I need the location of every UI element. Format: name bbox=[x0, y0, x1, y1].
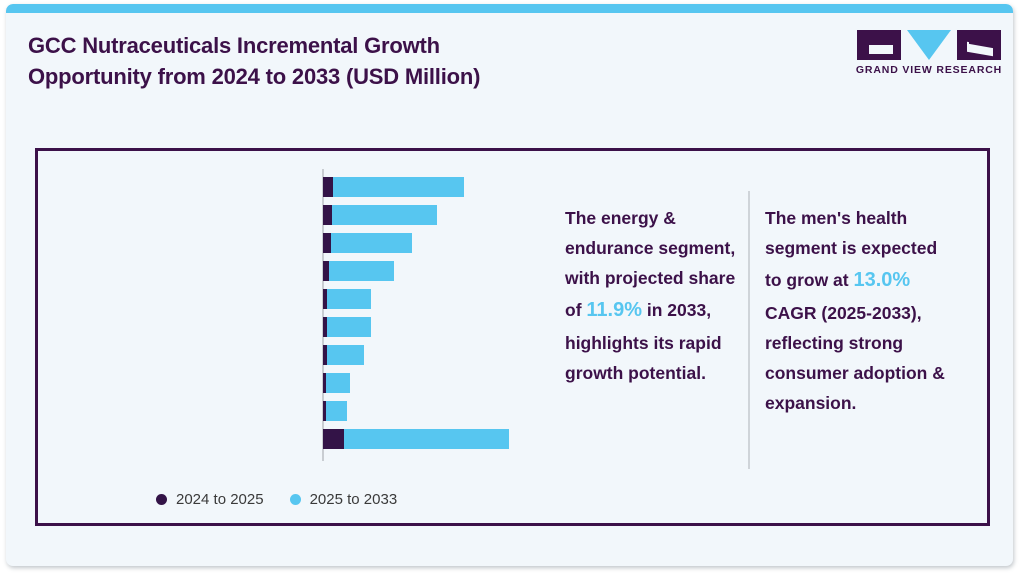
page-title: GCC Nutraceuticals Incremental Growth Op… bbox=[28, 30, 668, 93]
bar-segment-2025-2033[interactable] bbox=[332, 205, 437, 225]
chart-legend: 2024 to 20252025 to 2033 bbox=[156, 491, 397, 508]
infographic-card: GCC Nutraceuticals Incremental Growth Op… bbox=[6, 4, 1013, 566]
bar-track bbox=[323, 177, 464, 197]
bar-row: Sports Nutrition bbox=[38, 397, 558, 425]
callout-divider bbox=[748, 191, 750, 469]
energy-endurance-callout: The energy & endurance segment, with pro… bbox=[565, 203, 740, 388]
bar-segment-2025-2033[interactable] bbox=[344, 429, 509, 449]
bar-segment-2025-2033[interactable] bbox=[327, 289, 371, 309]
legend-label: 2025 to 2033 bbox=[310, 491, 398, 508]
bar-track bbox=[323, 289, 371, 309]
chart-panel: Infant HealthEnergy & EnduranceWeight Ma… bbox=[35, 148, 990, 526]
bar-row: Immune System bbox=[38, 257, 558, 285]
bar-segment-2025-2033[interactable] bbox=[331, 233, 412, 253]
legend-dot-icon bbox=[156, 494, 167, 505]
bar-rows-container: Infant HealthEnergy & EnduranceWeight Ma… bbox=[38, 173, 558, 453]
bar-row: Infant Health bbox=[38, 173, 558, 201]
bar-segment-2025-2033[interactable] bbox=[326, 401, 347, 421]
callout-highlight-value: 11.9% bbox=[586, 299, 642, 321]
top-accent-bar bbox=[6, 4, 1013, 13]
bar-track bbox=[323, 373, 350, 393]
bar-track bbox=[323, 205, 437, 225]
legend-dot-icon bbox=[290, 494, 301, 505]
bar-segment-2025-2033[interactable] bbox=[327, 345, 364, 365]
bar-row: Energy & Endurance bbox=[38, 201, 558, 229]
bar-chart-plot-area: Infant HealthEnergy & EnduranceWeight Ma… bbox=[38, 173, 558, 463]
logo-triangle-v-icon bbox=[907, 30, 951, 60]
bar-row: Digestive/Gut Health bbox=[38, 369, 558, 397]
grand-view-research-logo: GRAND VIEW RESEARCH bbox=[853, 30, 1005, 78]
bar-row: Diabetes bbox=[38, 341, 558, 369]
logo-marks bbox=[853, 30, 1005, 60]
bar-track bbox=[323, 317, 371, 337]
legend-item[interactable]: 2024 to 2025 bbox=[156, 491, 264, 508]
bar-segment-2024-2025[interactable] bbox=[323, 429, 344, 449]
logo-wordmark: GRAND VIEW RESEARCH bbox=[853, 64, 1005, 76]
bar-segment-2025-2033[interactable] bbox=[329, 261, 394, 281]
mens-health-callout: The men's health segment is expected to … bbox=[765, 203, 950, 418]
bar-row: Weight Management & Satiety bbox=[38, 229, 558, 257]
bar-row: Children's Health bbox=[38, 285, 558, 313]
bar-segment-2025-2033[interactable] bbox=[327, 317, 371, 337]
legend-label: 2024 to 2025 bbox=[176, 491, 264, 508]
bar-track bbox=[323, 429, 509, 449]
legend-item[interactable]: 2025 to 2033 bbox=[290, 491, 398, 508]
logo-letter-g-notch bbox=[869, 45, 893, 54]
bar-segment-2024-2025[interactable] bbox=[323, 233, 331, 253]
callout-text-pre: The men's health segment is expected to … bbox=[765, 208, 937, 290]
bar-segment-2025-2033[interactable] bbox=[333, 177, 464, 197]
callout-text-post: CAGR (2025-2033), reflecting strong cons… bbox=[765, 303, 945, 413]
bar-segment-2025-2033[interactable] bbox=[326, 373, 350, 393]
bar-track bbox=[323, 261, 394, 281]
bar-track bbox=[323, 401, 347, 421]
bar-track bbox=[323, 345, 364, 365]
bar-segment-2024-2025[interactable] bbox=[323, 177, 333, 197]
bar-row: Others bbox=[38, 425, 558, 453]
bar-row: Bone & Joint health bbox=[38, 313, 558, 341]
bar-segment-2024-2025[interactable] bbox=[323, 205, 332, 225]
bar-track bbox=[323, 233, 412, 253]
callout-highlight-value: 13.0% bbox=[853, 269, 910, 291]
